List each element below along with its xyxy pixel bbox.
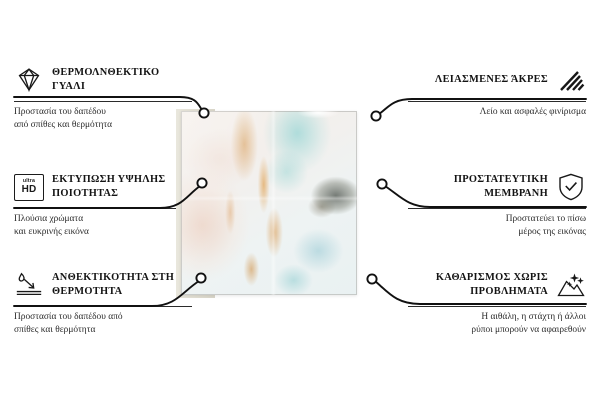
connector-dot-right-3 xyxy=(367,274,376,283)
connector-path-right-3 xyxy=(375,281,586,304)
connector-dot-right-1 xyxy=(371,111,380,120)
connector-dot-right-2 xyxy=(377,179,386,188)
connector-path-right-1 xyxy=(379,99,586,114)
connector-path-left-2 xyxy=(14,186,200,208)
infographic-canvas: ΘΕΡΜΟΛΝΘΕΚΤΙΚΟ ΓΥΑΛΙ Προστασία του δαπέδ… xyxy=(0,0,600,400)
connector-path-left-1 xyxy=(14,97,202,110)
connector-dot-left-2 xyxy=(197,178,206,187)
connector-lines xyxy=(0,0,600,400)
connector-path-left-3 xyxy=(14,281,199,306)
connector-dot-left-1 xyxy=(199,108,208,117)
connector-dot-left-3 xyxy=(196,273,205,282)
connector-path-right-2 xyxy=(385,186,586,207)
